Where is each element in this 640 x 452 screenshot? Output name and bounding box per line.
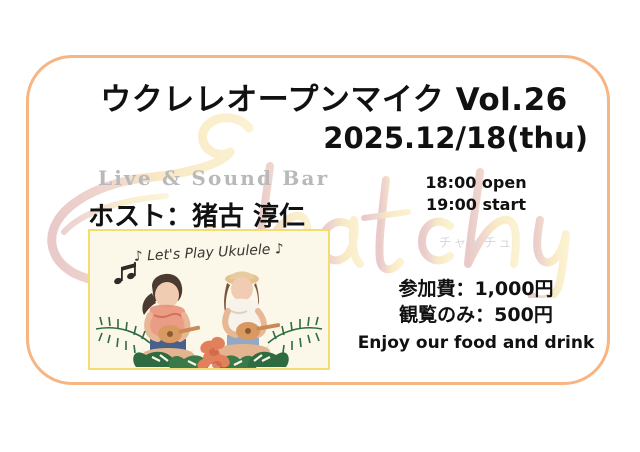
flyer-canvas: ウクレレオープンマイク Vol.26 2025.12/18(thu) Live … (0, 0, 640, 452)
open-time: 18:00 open (340, 172, 612, 194)
venue-subtitle: Live & Sound Bar (98, 166, 329, 190)
event-date: 2025.12/18(thu) (323, 121, 588, 155)
food-drink-tagline: Enjoy our food and drink (340, 330, 612, 356)
event-times: 18:00 open 19:00 start (340, 172, 612, 216)
ukulele-illustration: ♪ Let's Play Ukulele ♪ (88, 229, 330, 370)
price-info: 参加費：1,000円 観覧のみ：500円 Enjoy our food and … (340, 276, 612, 356)
viewing-fee: 観覧のみ：500円 (340, 302, 612, 328)
brand-kana-label: チャッチュ (340, 232, 612, 251)
page-title: ウクレレオープンマイク Vol.26 (0, 74, 640, 119)
host-name: ホスト：猪古 淳仁 (88, 196, 305, 233)
start-time: 19:00 start (340, 194, 612, 216)
participation-fee: 参加費：1,000円 (340, 276, 612, 302)
